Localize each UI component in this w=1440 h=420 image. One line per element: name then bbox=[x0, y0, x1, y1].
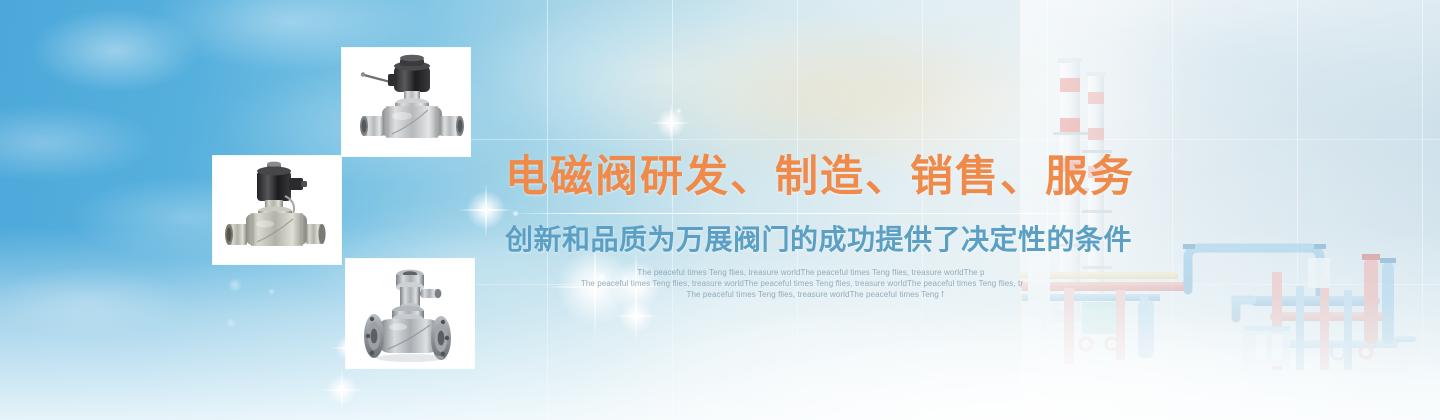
flange-right bbox=[431, 316, 451, 360]
solenoid-valve-threaded-black-coil-icon bbox=[342, 48, 470, 156]
product-tile-solenoid-valve-threaded[interactable] bbox=[342, 48, 470, 156]
product-tile-solenoid-valve-brass[interactable] bbox=[213, 156, 341, 264]
hero-banner: 电磁阀研发、制造、销售、服务 创新和品质为万展阀门的成功提供了决定性的条件 Th… bbox=[0, 0, 1440, 420]
solenoid-valve-brass-body-icon bbox=[213, 156, 341, 264]
blurb-line-1: The peaceful times Teng flies, treasure … bbox=[505, 267, 1105, 278]
solenoid-valve-flanged-icon bbox=[346, 259, 474, 368]
title-divider bbox=[515, 213, 1095, 214]
decorative-blurb-text: The peaceful times Teng flies, treasure … bbox=[505, 267, 1105, 300]
blurb-line-3: The peaceful times Teng flies, treasure … bbox=[505, 289, 1105, 300]
blurb-line-2: The peaceful times Teng flies, treasure … bbox=[505, 278, 1105, 289]
banner-copy-block: 电磁阀研发、制造、销售、服务 创新和品质为万展阀门的成功提供了决定性的条件 Th… bbox=[505, 152, 1105, 300]
page-subtitle: 创新和品质为万展阀门的成功提供了决定性的条件 bbox=[505, 223, 1105, 257]
product-tile-solenoid-valve-flanged[interactable] bbox=[346, 259, 474, 368]
flange-left bbox=[364, 314, 384, 358]
page-title: 电磁阀研发、制造、销售、服务 bbox=[505, 152, 1105, 202]
